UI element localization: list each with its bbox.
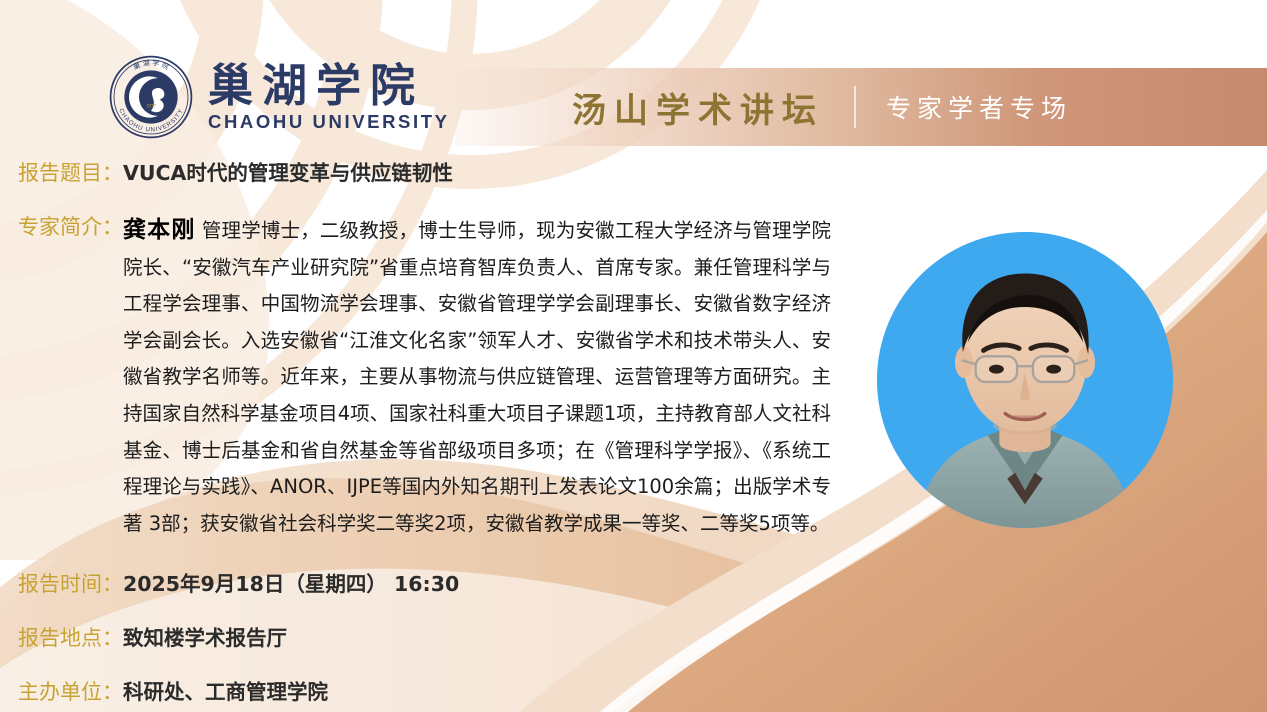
lecture-poster: 1977 巢 湖 学 院 CHAOHU UNIVERSITY 巢湖学院 CHAO… bbox=[0, 0, 1267, 712]
title-label: 报告题目： bbox=[18, 158, 123, 188]
title-value: VUCA时代的管理变革与供应链韧性 bbox=[123, 158, 453, 188]
field-bio-row: 专家简介： 龚本刚 管理学博士，二级教授，博士生导师，现为安徽工程大学经济与管理… bbox=[18, 212, 831, 542]
field-time-row: 报告时间： 2025年9月18日（星期四） 16:30 bbox=[18, 569, 459, 599]
speaker-portrait bbox=[877, 232, 1173, 528]
bio-text: 管理学博士，二级教授，博士生导师，现为安徽工程大学经济与管理学院院长、“安徽汽车… bbox=[123, 219, 831, 535]
time-value: 2025年9月18日（星期四） 16:30 bbox=[123, 569, 459, 599]
organizer-value: 科研处、工商管理学院 bbox=[123, 677, 328, 707]
bio-label: 专家简介： bbox=[18, 212, 123, 242]
bio-paragraph: 龚本刚 管理学博士，二级教授，博士生导师，现为安徽工程大学经济与管理学院院长、“… bbox=[123, 212, 831, 542]
field-place-row: 报告地点： 致知楼学术报告厅 bbox=[18, 623, 287, 653]
time-label: 报告时间： bbox=[18, 569, 123, 599]
place-value: 致知楼学术报告厅 bbox=[123, 623, 287, 653]
field-title-row: 报告题目： VUCA时代的管理变革与供应链韧性 bbox=[18, 158, 453, 188]
speaker-name: 龚本刚 bbox=[123, 217, 196, 243]
field-organizer-row: 主办单位： 科研处、工商管理学院 bbox=[18, 677, 328, 707]
organizer-label: 主办单位： bbox=[18, 677, 123, 707]
place-label: 报告地点： bbox=[18, 623, 123, 653]
